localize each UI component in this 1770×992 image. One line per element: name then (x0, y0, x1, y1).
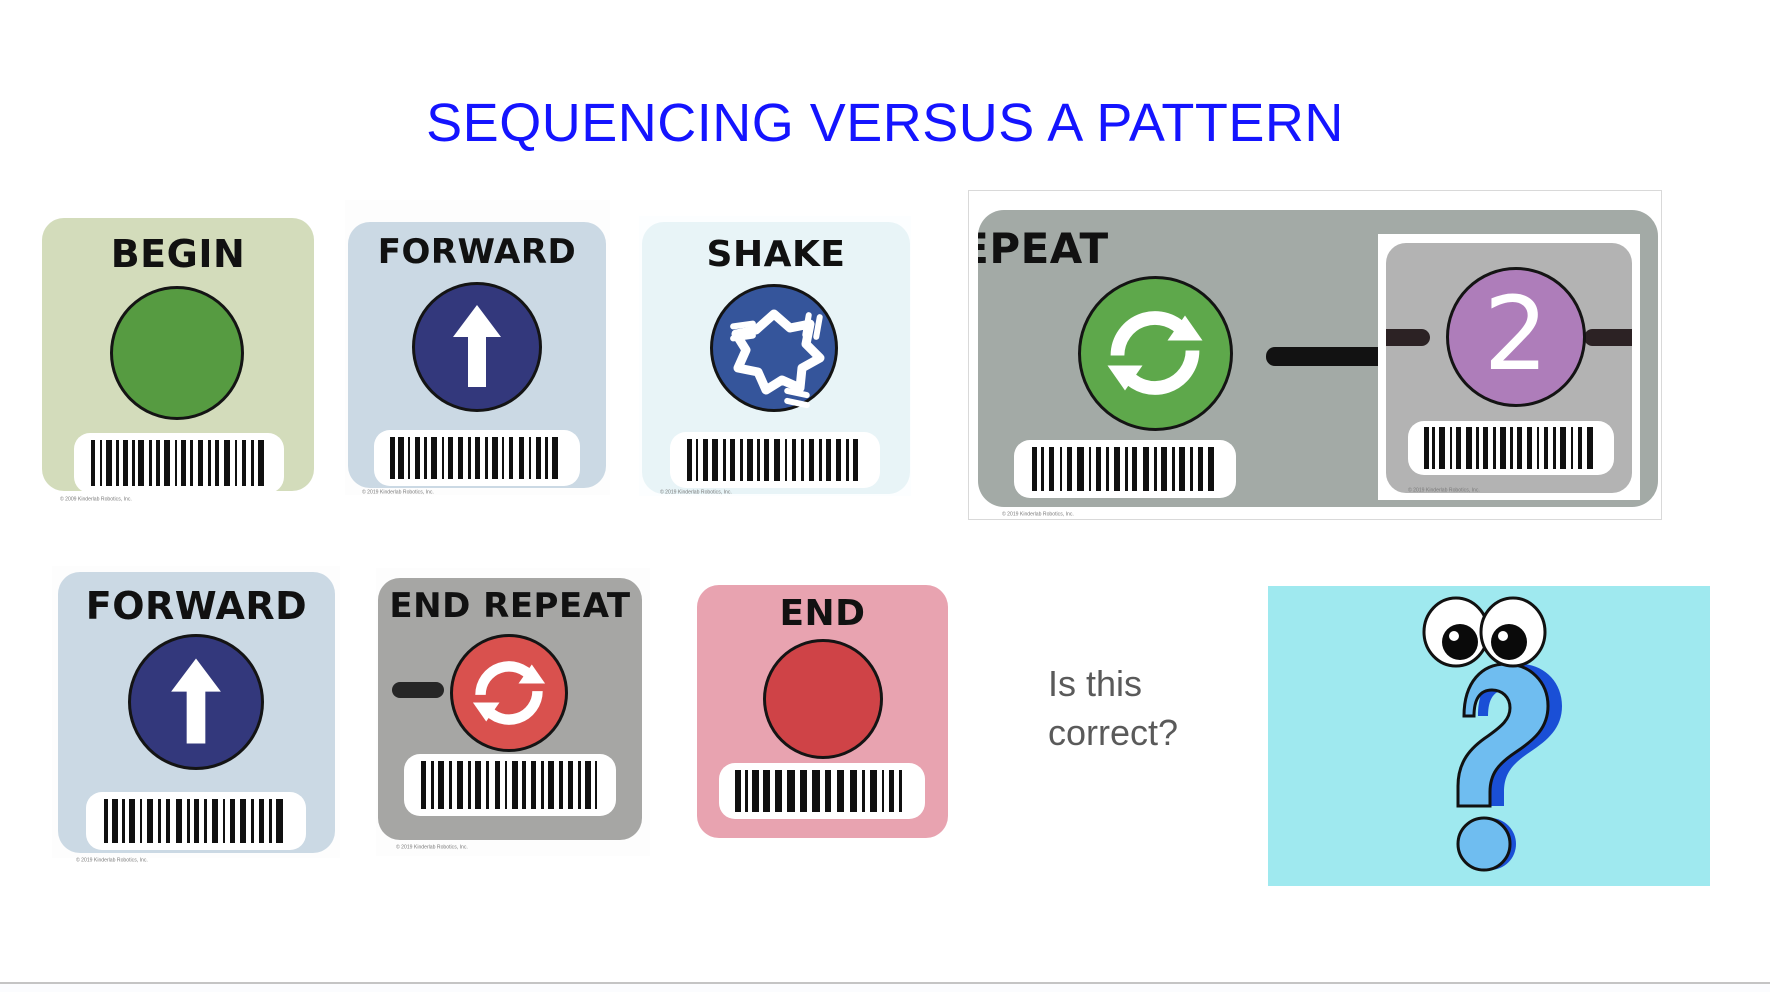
card-end-repeat-copyright: © 2019 Kinderlab Robotics, Inc. (396, 845, 468, 850)
end-barcode (719, 763, 925, 819)
card-forward-1-copyright: © 2019 Kinderlab Robotics, Inc. (362, 490, 434, 495)
question-line-1: Is this (1048, 660, 1278, 709)
solid-circle-icon-end (763, 639, 883, 759)
page-title: SEQUENCING VERSUS A PATTERN (0, 92, 1770, 154)
shake-star-icon (710, 284, 838, 412)
end-repeat-dash-left (392, 682, 444, 698)
cartoon-question-mark-icon (1268, 586, 1710, 886)
repeat-arrows-icon (452, 636, 566, 750)
end-barcode-bars (735, 770, 908, 813)
card-forward-2-label: FORWARD (58, 584, 335, 628)
number-2-barcode-bars (1424, 427, 1597, 468)
card-number-2[interactable]: 2 (1386, 243, 1632, 493)
number-2-dash-right (1584, 329, 1632, 346)
shake-barcode (670, 432, 880, 488)
card-repeat-copyright: © 2019 Kinderlab Robotics, Inc. (1002, 512, 1074, 517)
shake-barcode-bars (687, 439, 863, 482)
forward-1-barcode-bars (390, 437, 563, 480)
card-shake-copyright: © 2019 Kinderlab Robotics, Inc. (660, 490, 732, 495)
forward-2-barcode-bars (104, 799, 289, 843)
repeat-arrows-icon-circle (1078, 276, 1233, 431)
card-number-2-copyright: © 2019 Kinderlab Robotics, Inc. (1408, 488, 1480, 493)
pupil-right (1491, 624, 1527, 660)
end-repeat-barcode (404, 754, 616, 816)
arrow-up-icon-circle-2 (128, 634, 264, 770)
slide-canvas: SEQUENCING VERSUS A PATTERN BEGIN © 2009… (0, 0, 1770, 992)
card-end-repeat-label: END REPEAT (378, 586, 642, 626)
card-forward-1-label: FORWARD (348, 232, 606, 272)
number-badge-value: 2 (1449, 284, 1583, 386)
card-shake[interactable]: SHAKE (642, 222, 910, 494)
forward-1-barcode (374, 430, 580, 486)
card-repeat-label: REPEAT (978, 224, 1358, 273)
card-forward-1[interactable]: FORWARD (348, 222, 606, 488)
begin-barcode (74, 433, 284, 491)
arrow-up-icon (168, 654, 224, 750)
shake-star-icon-circle (710, 284, 838, 412)
end-repeat-arrows-icon-circle (450, 634, 568, 752)
card-forward-2-copyright: © 2019 Kinderlab Robotics, Inc. (76, 858, 148, 863)
end-repeat-barcode-bars (421, 761, 599, 808)
repeat-barcode (1014, 440, 1236, 498)
card-forward-2[interactable]: FORWARD (58, 572, 335, 853)
forward-2-barcode (86, 792, 306, 850)
arrow-up-icon (450, 301, 504, 393)
card-begin[interactable]: BEGIN (42, 218, 314, 491)
repeat-arrows-icon (1080, 278, 1230, 428)
bottom-strip (0, 984, 1770, 992)
solid-circle-icon (110, 286, 244, 420)
pupil-left (1442, 624, 1478, 660)
number-2-dash-left (1386, 329, 1430, 346)
question-prompt: Is this correct? (1048, 660, 1278, 757)
question-line-2: correct? (1048, 709, 1278, 758)
card-end[interactable]: END (697, 585, 948, 838)
card-end-label: END (697, 593, 948, 634)
number-badge-icon-circle: 2 (1446, 267, 1586, 407)
arrow-up-icon-circle (412, 282, 542, 412)
card-begin-label: BEGIN (42, 232, 314, 276)
card-shake-label: SHAKE (642, 234, 910, 275)
card-end-repeat[interactable]: END REPEAT (378, 578, 642, 840)
question-mark-image (1268, 586, 1710, 886)
begin-barcode-bars (91, 440, 267, 486)
number-2-barcode (1408, 421, 1614, 475)
repeat-barcode-bars (1032, 447, 1218, 491)
card-begin-copyright: © 2009 Kinderlab Robotics, Inc. (60, 497, 132, 502)
